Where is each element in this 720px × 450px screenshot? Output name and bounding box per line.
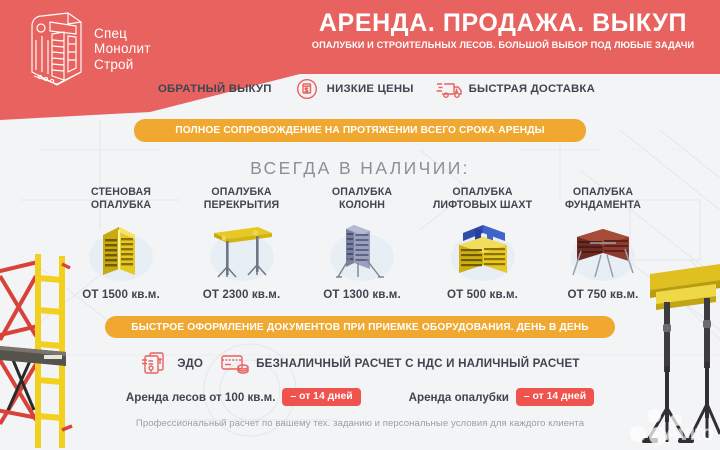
edo-documents-icon [140,350,170,376]
banner-bottom-documents: БЫСТРОЕ ОФОРМЛЕНИЕ ДОКУМЕНТОВ ПРИ ПРИЕМК… [105,316,615,338]
page-title: АРЕНДА. ПРОДАЖА. ВЫКУП [288,8,718,38]
term-badge: – от 14 дней [516,388,594,406]
product-name: ОПАЛУБКА ЛИФТОВЫХ ШАХТ [424,186,542,211]
brand-name-line1: Спец [94,26,151,42]
product-price: ОТ 2300 кв.м. [183,288,301,301]
product-card[interactable]: ОПАЛУБКА ЛИФТОВЫХ ШАХТ [424,186,542,301]
product-price: ОТ 1300 кв.м. [303,288,421,301]
term-badge: – от 14 дней [282,388,360,406]
feature-row: ОБРАТНЫЙ ВЫКУП НИЗКИЕ ЦЕНЫ [0,78,720,100]
building-outline-icon [24,10,86,88]
payment-label: ЭДО [177,357,203,370]
promo-banner: Спец Монолит Строй АРЕНДА. ПРОДАЖА. ВЫКУ… [0,0,720,450]
delivery-truck-icon [436,78,462,100]
feature-low-prices: НИЗКИЕ ЦЕНЫ [294,78,414,100]
term-formwork: Аренда опалубки – от 14 дней [409,388,594,406]
feature-label: ОБРАТНЫЙ ВЫКУП [158,83,272,95]
price-tag-circle-icon [294,78,320,100]
section-heading: ВСЕГДА В НАЛИЧИИ: [0,158,720,179]
feature-buyback: ОБРАТНЫЙ ВЫКУП [125,78,272,100]
buyback-arrows-dollar-icon [125,78,151,100]
card-cash-icon [219,350,249,376]
payment-methods: БЕЗНАЛИЧНЫЙ РАСЧЕТ С НДС И НАЛИЧНЫЙ РАСЧ… [219,350,580,376]
payment-label: БЕЗНАЛИЧНЫЙ РАСЧЕТ С НДС И НАЛИЧНЫЙ РАСЧ… [256,357,580,370]
feature-fast-delivery: БЫСТРАЯ ДОСТАВКА [436,78,595,100]
brand-name: Спец Монолит Строй [94,26,151,73]
page-subtitle: ОПАЛУБКИ И СТРОИТЕЛЬНЫХ ЛЕСОВ. БОЛЬШОЙ В… [288,39,718,52]
header-text: АРЕНДА. ПРОДАЖА. ВЫКУП ОПАЛУБКИ И СТРОИТ… [288,8,718,52]
product-card[interactable]: ОПАЛУБКА КОЛОНН [303,186,421,301]
banner-top-support: ПОЛНОЕ СОПРОВОЖДЕНИЕ НА ПРОТЯЖЕНИИ ВСЕГО… [134,119,586,142]
product-name: ОПАЛУБКА КОЛОНН [303,186,421,211]
product-name: ОПАЛУБКА ФУНДАМЕНТА [544,186,662,211]
brand-logo: Спец Монолит Строй [24,10,151,88]
feature-label: НИЗКИЕ ЦЕНЫ [327,83,414,95]
slab-formwork-icon [183,215,301,283]
term-label: Аренда лесов от 100 кв.м. [126,391,276,404]
shaft-formwork-icon [424,215,542,283]
scaffolding-tower-photo [0,240,104,450]
payment-edo: ЭДО [140,350,203,376]
brand-name-line2: Монолит [94,41,151,57]
product-name: СТЕНОВАЯ ОПАЛУБКА [62,186,180,211]
product-price: ОТ 500 кв.м. [424,288,542,301]
formwork-props-beams-photo [612,258,720,450]
product-grid: СТЕНОВАЯ ОПАЛУБКА [62,186,662,301]
term-scaffolding: Аренда лесов от 100 кв.м. – от 14 дней [126,388,361,406]
column-formwork-icon [303,215,421,283]
brand-name-line3: Строй [94,57,151,73]
term-label: Аренда опалубки [409,391,509,404]
product-card[interactable]: ОПАЛУБКА ПЕРЕКРЫТИЯ ОТ 230 [183,186,301,301]
product-name: ОПАЛУБКА ПЕРЕКРЫТИЯ [183,186,301,211]
feature-label: БЫСТРАЯ ДОСТАВКА [469,83,595,95]
